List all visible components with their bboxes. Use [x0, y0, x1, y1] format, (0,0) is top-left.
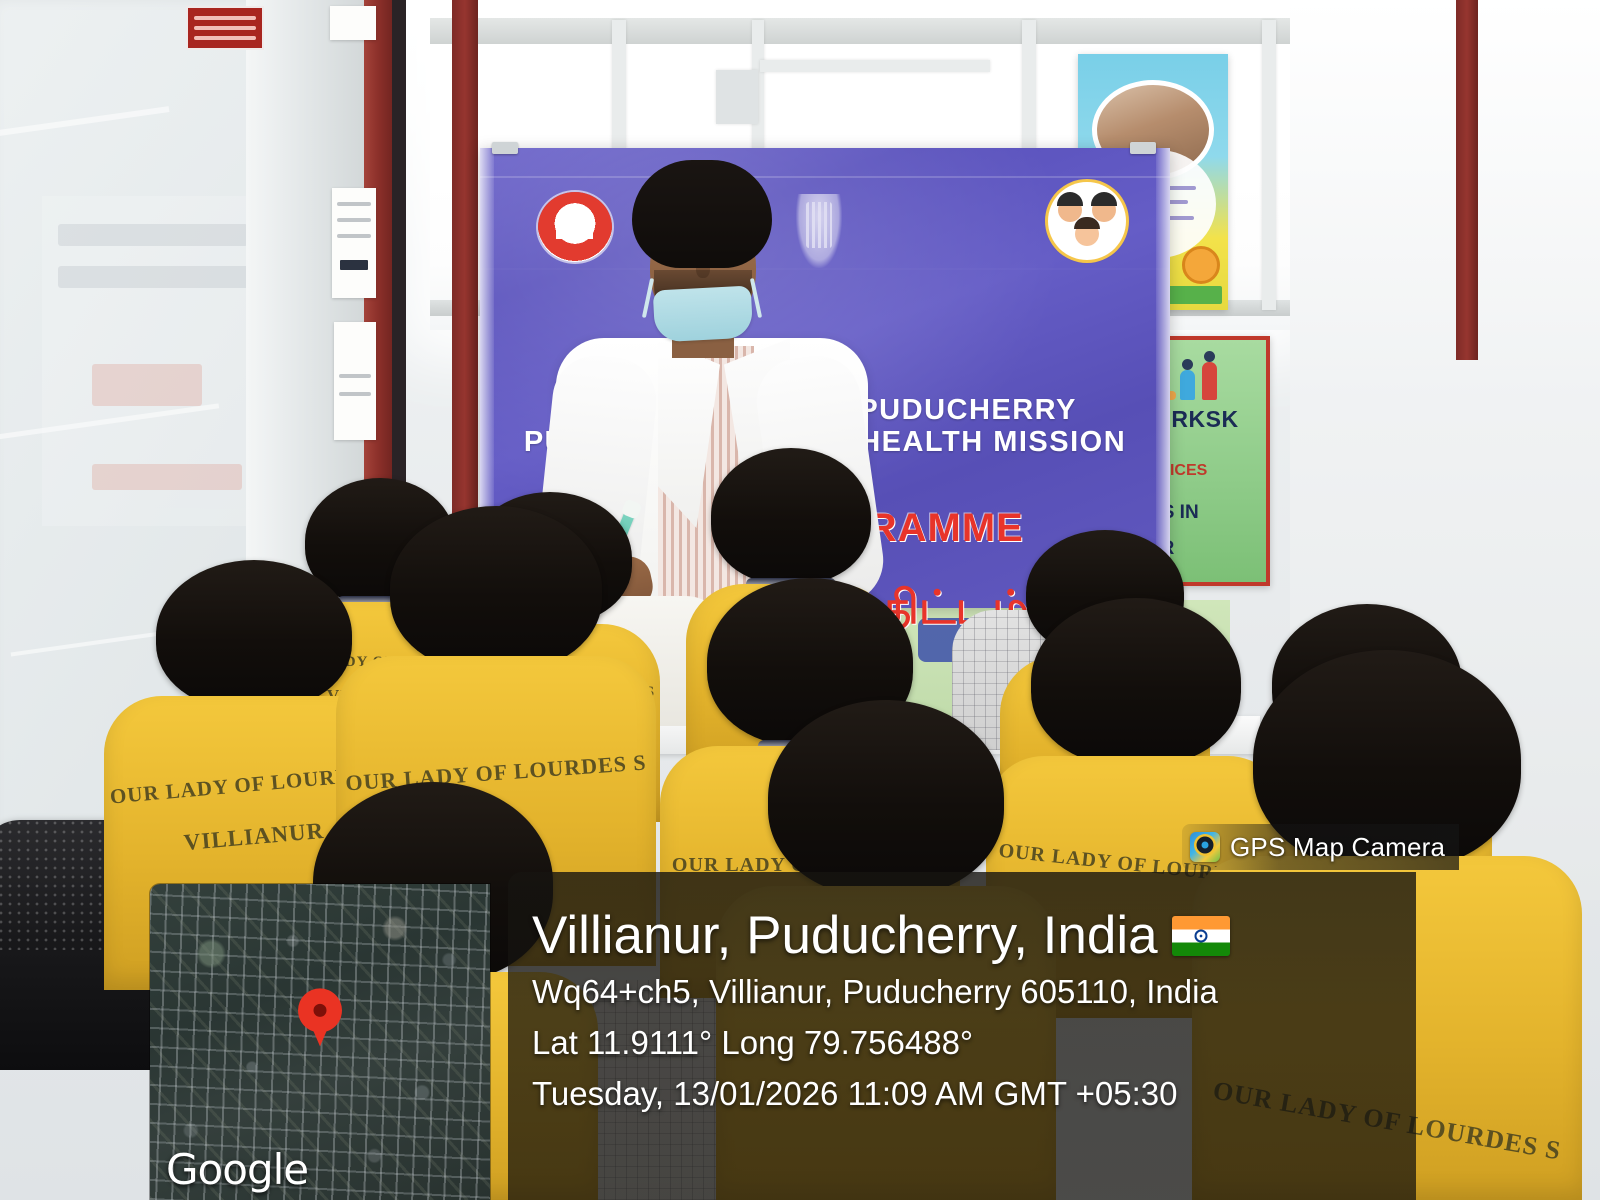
google-watermark: Google: [166, 1145, 308, 1194]
gps-app-name: GPS Map Camera: [1230, 832, 1445, 863]
location-pin-icon: [298, 989, 342, 1047]
window-ac-unit: [716, 70, 758, 124]
map-thumbnail[interactable]: Google: [150, 884, 490, 1200]
window-mullion: [760, 60, 990, 72]
notice-paper: [330, 6, 376, 40]
banner-clip: [1130, 142, 1156, 154]
location-address: Wq64+ch5, Villianur, Puducherry 605110, …: [532, 971, 1406, 1014]
door-frame-far-right: [1456, 0, 1478, 360]
poster-clock-icon: [1182, 246, 1220, 284]
door-frame-left-inner: [392, 0, 406, 500]
gps-map-camera-badge: GPS Map Camera: [1182, 824, 1459, 870]
notice-paper: [334, 322, 376, 440]
location-title-row: Villianur, Puducherry, India: [532, 908, 1406, 963]
glass-streak: [0, 106, 169, 140]
banner-clip: [492, 142, 518, 154]
gps-info-panel: Villianur, Puducherry, India Wq64+ch5, V…: [508, 872, 1416, 1200]
rbsk-logo-icon: [1048, 182, 1126, 260]
window-beam: [430, 18, 1300, 44]
location-title: Villianur, Puducherry, India: [532, 908, 1158, 963]
mask-ear-loop: [642, 278, 654, 318]
presenter-hair: [632, 160, 772, 268]
wall-sign-red: [186, 6, 264, 50]
window-mullion: [1262, 20, 1276, 310]
notice-paper: [332, 188, 376, 298]
location-coordinates: Lat 11.9111° Long 79.756488°: [532, 1022, 1406, 1065]
india-flag-icon: [1172, 916, 1230, 956]
photo-screenshot: RKSK RVICES RS IN ER: [0, 0, 1600, 1200]
capture-datetime: Tuesday, 13/01/2026 11:09 AM GMT +05:30: [532, 1073, 1406, 1116]
face-mask-icon: [653, 285, 754, 342]
camera-lens-icon: [1190, 832, 1220, 862]
